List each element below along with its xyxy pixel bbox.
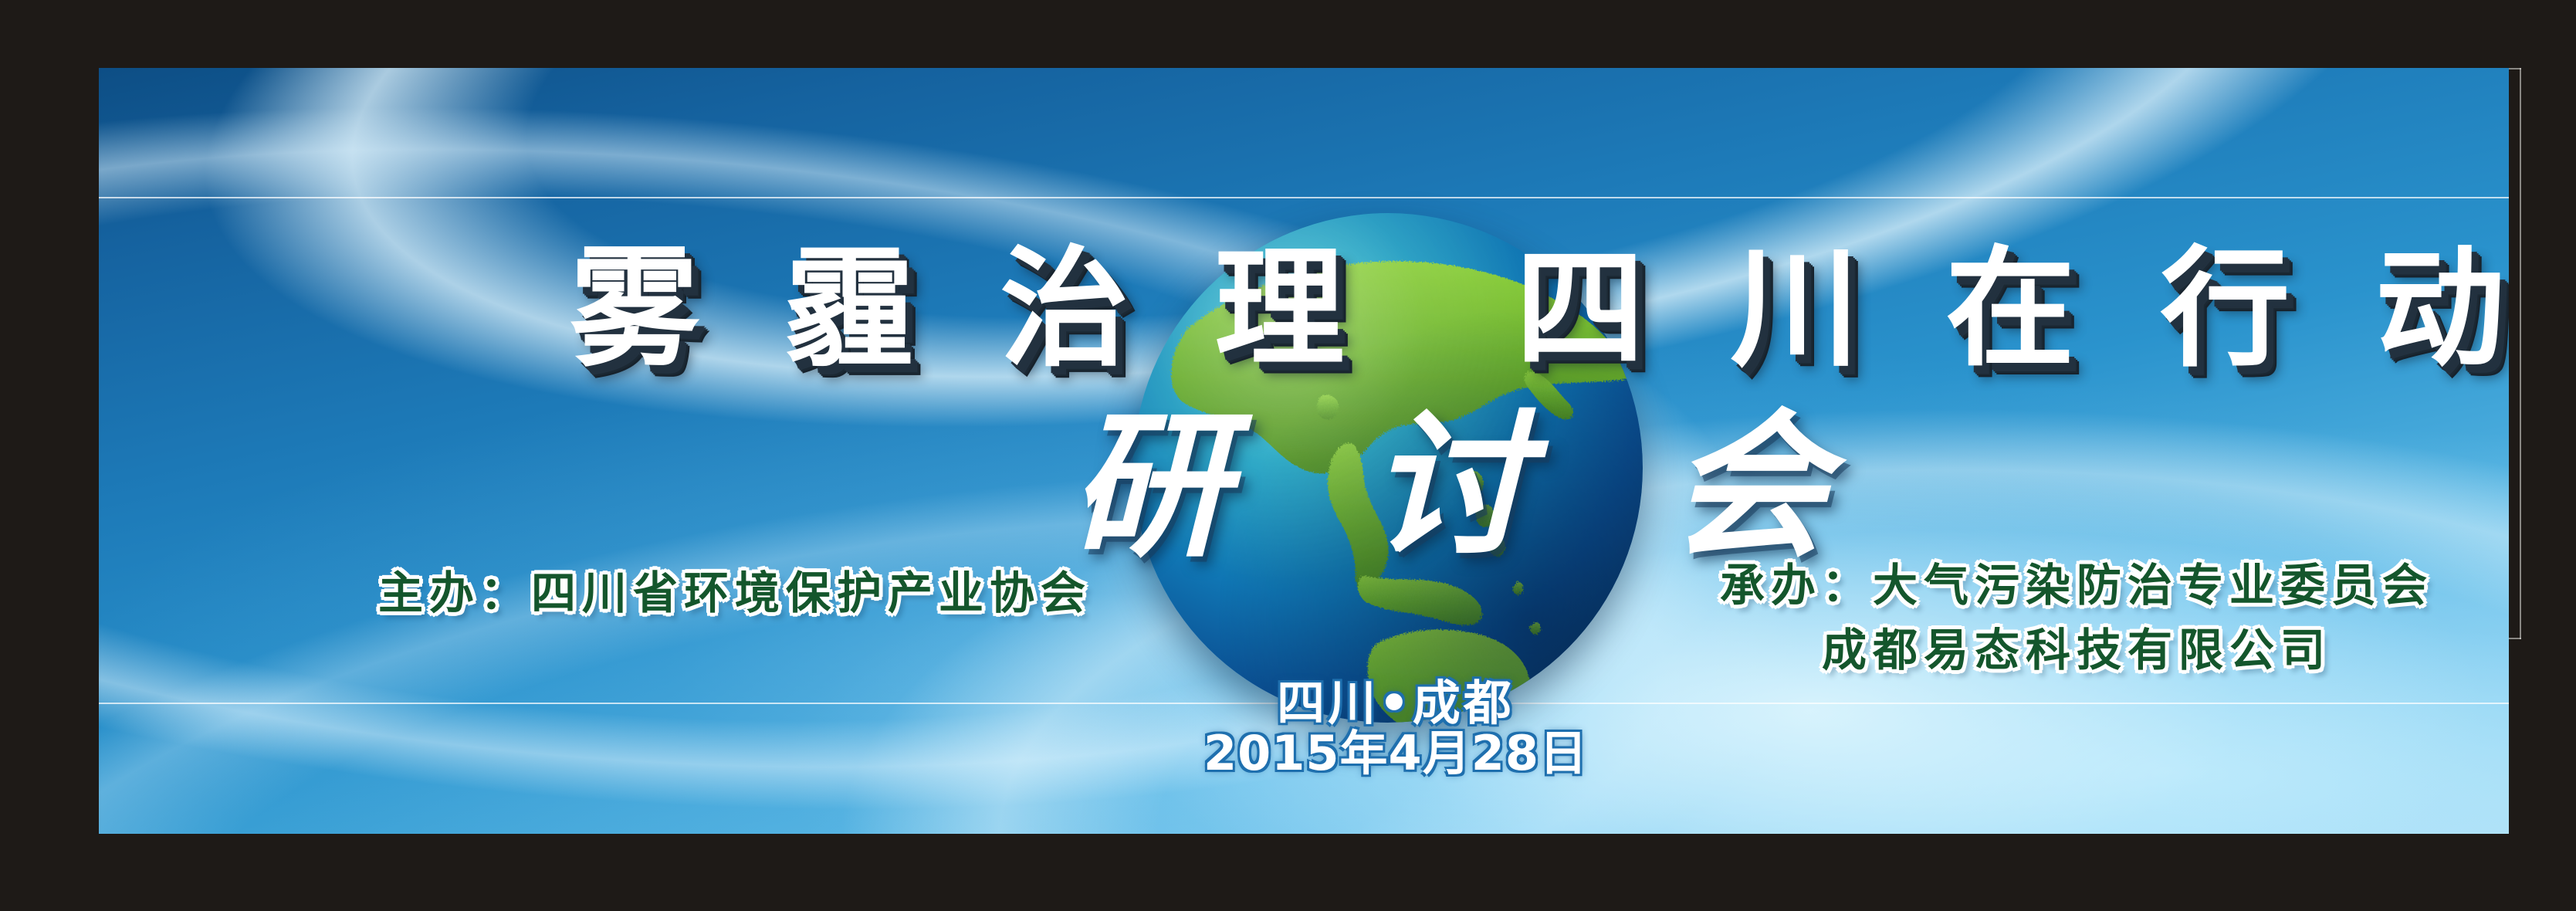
panel-seam-upper — [99, 197, 2509, 198]
coorganizer-block: 承办：大气污染防治专业委员会 成都易态科技有限公司 — [1720, 553, 2433, 682]
frame-line-right-ext-vert — [2520, 68, 2521, 639]
event-info: 四川•成都 2015年4月28日 — [1203, 678, 1589, 778]
headline-right: 四 川 在 行 动 — [1515, 244, 2509, 374]
coorganizer-label: 承办：大气污染防治专业委员会 — [1720, 559, 2433, 611]
poster-canvas: 雾 霾 治 理 四 川 在 行 动 研 讨 会 主办：四川省环境保护产业协会 承… — [0, 0, 2576, 911]
coorganizer-company: 成都易态科技有限公司 — [1720, 618, 2433, 682]
frame-line-right-upper-ext — [2507, 68, 2521, 69]
headline-left: 雾 霾 治 理 — [570, 244, 1364, 374]
frame-line-right-ext-bot — [2507, 638, 2521, 639]
host-organizer-label: 主办：四川省环境保护产业协会 — [378, 560, 1092, 625]
event-date: 2015年4月28日 — [1203, 728, 1589, 778]
event-banner: 雾 霾 治 理 四 川 在 行 动 研 讨 会 主办：四川省环境保护产业协会 承… — [99, 68, 2509, 834]
event-place: 四川•成都 — [1203, 678, 1589, 728]
calligraphy-subtitle: 研 讨 会 — [1070, 408, 1871, 566]
